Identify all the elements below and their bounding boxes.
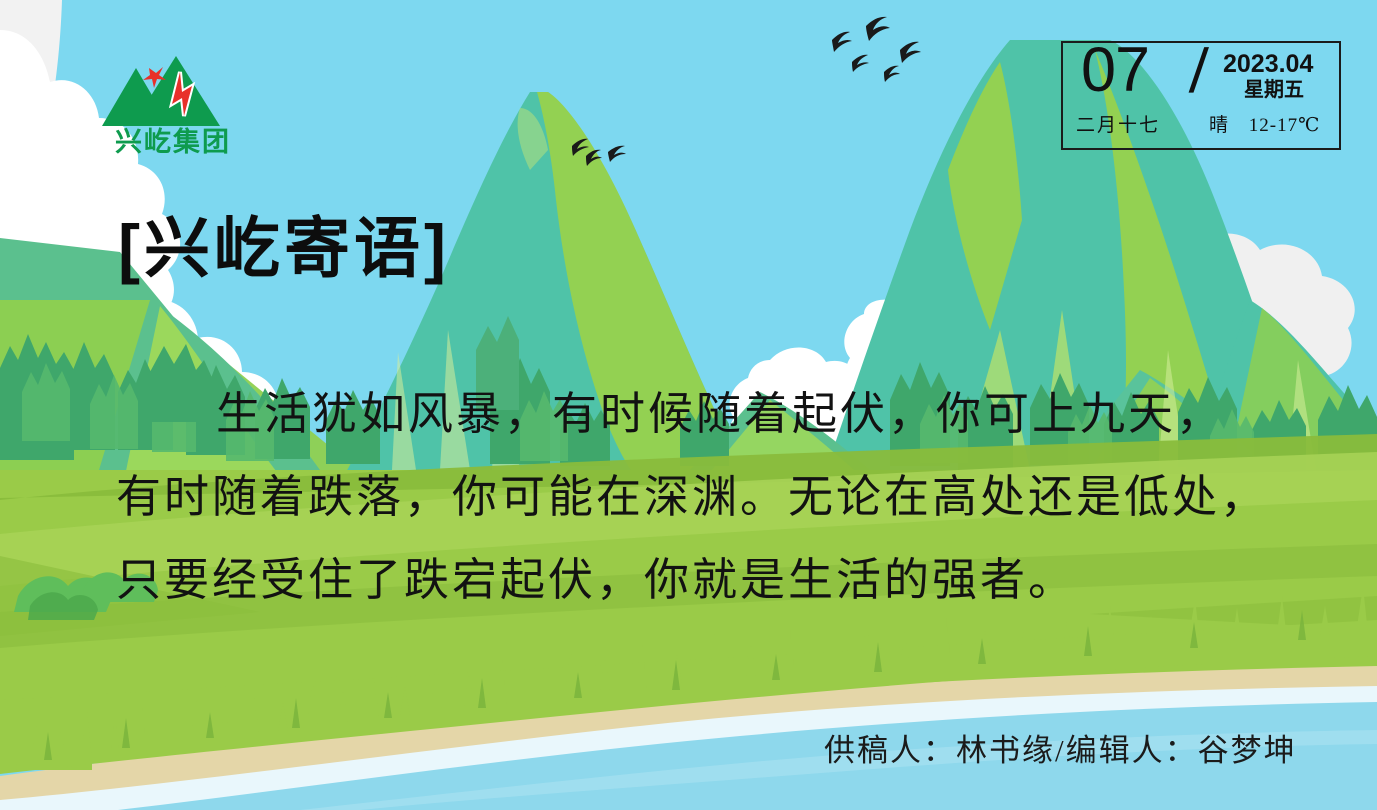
- date-separator: /: [1188, 41, 1210, 103]
- brand-logo[interactable]: 兴屹集团: [92, 44, 252, 159]
- date-weekday: 星期五: [1244, 80, 1304, 101]
- date-box-top-row: 07 / 2023.04 星期五: [1063, 43, 1339, 107]
- date-weather-box: 07 / 2023.04 星期五 二月十七 晴 12-17℃: [1061, 41, 1341, 150]
- date-day: 07: [1081, 39, 1149, 102]
- lunar-date: 二月十七: [1076, 115, 1160, 137]
- quote-body: 生活犹如风暴，有时候随着起伏，你可上九天， 有时随着跌落，你可能在深渊。无论在高…: [116, 373, 1346, 622]
- quote-line-1: 生活犹如风暴，有时候随着起伏，你可上九天，: [116, 373, 1346, 456]
- weather-temperature: 12-17℃: [1249, 115, 1321, 136]
- page-title: [兴屹寄语]: [118, 212, 450, 284]
- quote-line-2: 有时随着跌落，你可能在深渊。无论在高处还是低处，: [116, 456, 1346, 539]
- poster-canvas: 兴屹集团 07 / 2023.04 星期五 二月十七 晴 12-17℃ [兴屹寄…: [0, 0, 1377, 810]
- quote-line-3: 只要经受住了跌宕起伏，你就是生活的强者。: [116, 539, 1346, 622]
- date-year-month: 2023.04: [1223, 51, 1313, 77]
- weather-condition: 晴: [1209, 115, 1229, 136]
- logo-wordmark: 兴屹集团: [98, 120, 248, 159]
- weather-info: 晴 12-17℃: [1209, 115, 1320, 137]
- credits-line: 供稿人：林书缘/编辑人：谷梦坤: [824, 732, 1297, 770]
